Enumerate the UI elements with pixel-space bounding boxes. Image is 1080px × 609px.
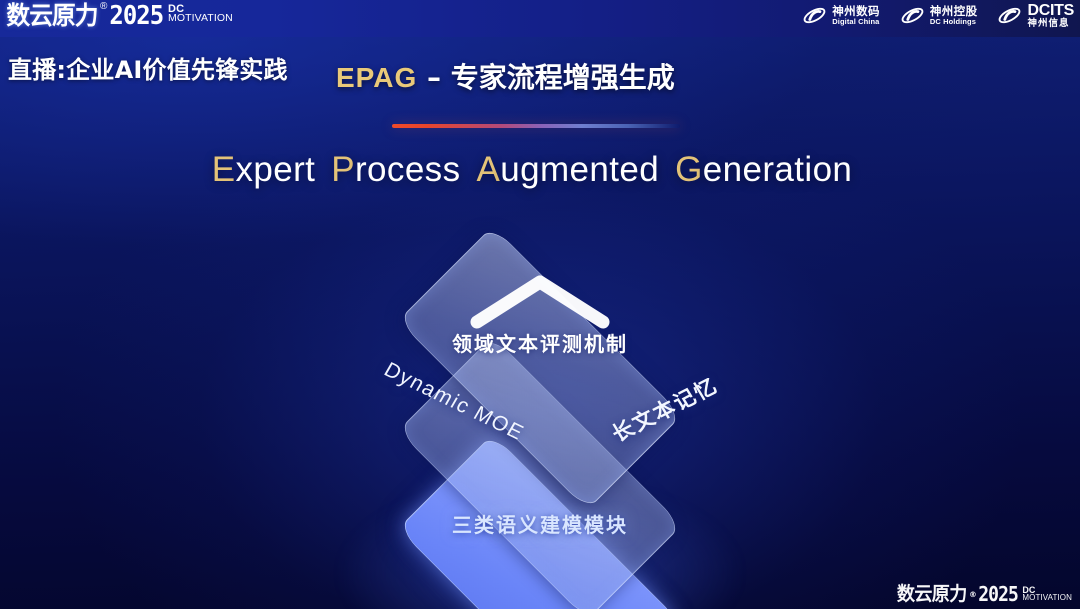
watermark-dc-motivation: DC MOTIVATION [1022, 584, 1072, 601]
headline-cap-p: P [331, 150, 355, 189]
logo-dc-holdings: 神州控股 DC Holdings [900, 3, 978, 28]
swirl-logo-icon [802, 3, 827, 28]
slide-canvas: 数云原力®2025 DC MOTIVATION 神州数码 Digital Chi… [0, 0, 1080, 609]
layer-stack-diagram: 领域文本评测机制 Dynamic MOE 长文本记忆 三类语义建模模块 [310, 228, 770, 578]
headline-word-generation: Generation [675, 150, 852, 189]
brand-year: 2025 [110, 2, 164, 30]
brand-motivation-label: MOTIVATION [168, 14, 233, 24]
headline-cap-a: A [477, 150, 501, 189]
page-title-acronym: EPAG [336, 62, 417, 93]
watermark-motivation-label: MOTIVATION [1022, 594, 1072, 601]
brand-dc-motivation: DC MOTIVATION [168, 2, 233, 24]
logo-en-label: DC Holdings [930, 18, 978, 26]
page-title-cn: – 专家流程增强生成 [427, 61, 675, 94]
headline-rest-process: rocess [355, 150, 461, 189]
partner-logo-group: 神州数码 Digital China 神州控股 DC Holdings [802, 3, 1074, 29]
headline-rest-expert: xpert [235, 150, 315, 189]
logo-text-dcits: DCITS 神州信息 [1027, 3, 1074, 29]
headline-word-augmented: Augmented [477, 150, 660, 189]
headline-cap-g: G [675, 150, 703, 189]
swirl-logo-icon [997, 3, 1022, 28]
logo-text-digital-china: 神州数码 Digital China [832, 6, 880, 25]
gradient-divider [392, 124, 680, 128]
page-title: EPAG – 专家流程增强生成 [336, 56, 675, 96]
logo-cn-label: 神州信息 [1027, 19, 1074, 29]
headline-word-expert: Expert [212, 150, 316, 189]
watermark-year: 2025 [978, 584, 1018, 605]
logo-en-label: DCITS [1027, 3, 1074, 19]
watermark-reg-mark: ® [969, 584, 976, 605]
headline-rest-augmented: ugmented [500, 150, 659, 189]
headline-cap-e: E [212, 150, 236, 189]
brand-name-cn: 数云原力 [6, 2, 97, 30]
logo-dcits: DCITS 神州信息 [997, 3, 1074, 29]
stack-label-top: 领域文本评测机制 [452, 328, 628, 357]
brand-reg-mark: ® [100, 2, 107, 12]
headline-rest-generation: eneration [703, 150, 853, 189]
brand-logo-top-left: 数云原力®2025 DC MOTIVATION [4, 2, 233, 32]
headline-word-process: Process [331, 150, 460, 189]
stack-label-bottom: 三类语义建模模块 [452, 509, 628, 538]
logo-digital-china: 神州数码 Digital China [802, 3, 880, 28]
watermark-logo-bottom-right: 数云原力®2025 DC MOTIVATION [895, 584, 1072, 605]
swirl-logo-icon [900, 3, 925, 28]
logo-text-dc-holdings: 神州控股 DC Holdings [930, 6, 978, 25]
live-session-subtitle: 直播:企业AI价值先锋实践 [8, 50, 288, 85]
watermark-name-cn: 数云原力 [897, 584, 967, 605]
english-headline: ExpertProcessAugmentedGeneration [0, 150, 1080, 190]
logo-en-label: Digital China [832, 18, 880, 26]
